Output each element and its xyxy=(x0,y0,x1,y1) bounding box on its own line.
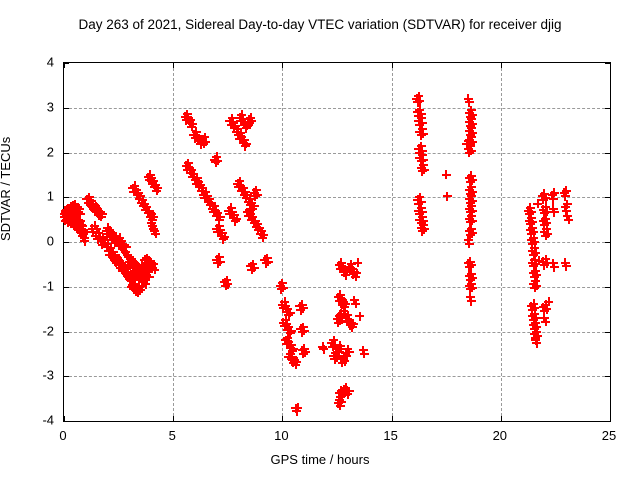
data-point-marker xyxy=(212,152,221,161)
data-point-marker xyxy=(349,270,358,279)
data-point-marker xyxy=(137,281,146,290)
data-point-marker xyxy=(563,212,572,221)
data-point-marker xyxy=(246,201,255,210)
data-point-marker xyxy=(468,119,477,128)
data-point-marker xyxy=(527,213,536,222)
y-tick-label: 4 xyxy=(0,55,54,70)
data-point-marker xyxy=(62,212,71,221)
data-point-marker xyxy=(184,159,193,168)
data-point-marker xyxy=(213,156,222,165)
data-point-marker xyxy=(63,211,72,220)
data-point-marker xyxy=(216,226,225,235)
data-point-marker xyxy=(75,204,84,213)
data-point-marker xyxy=(535,256,544,265)
data-point-marker xyxy=(334,293,343,302)
data-point-marker xyxy=(240,190,249,199)
data-point-marker xyxy=(221,281,230,290)
data-point-marker xyxy=(80,234,89,243)
data-point-marker xyxy=(415,193,424,202)
data-point-marker xyxy=(342,351,351,360)
data-point-marker xyxy=(468,176,477,185)
data-point-marker xyxy=(138,195,147,204)
data-point-marker xyxy=(467,270,476,279)
data-point-marker xyxy=(340,310,349,319)
data-point-marker xyxy=(138,267,147,276)
data-point-marker xyxy=(466,130,475,139)
data-point-marker xyxy=(64,204,73,213)
data-point-marker xyxy=(128,184,137,193)
data-point-marker xyxy=(466,230,475,239)
data-point-marker xyxy=(329,351,338,360)
data-point-marker xyxy=(244,197,253,206)
data-point-marker xyxy=(542,219,551,228)
data-point-marker xyxy=(142,254,151,263)
data-point-marker xyxy=(246,210,255,219)
data-point-marker xyxy=(148,215,157,224)
data-point-marker xyxy=(345,263,354,272)
data-point-marker xyxy=(242,139,251,148)
data-point-marker xyxy=(67,203,76,212)
data-point-marker xyxy=(234,131,243,140)
data-point-marker xyxy=(135,274,144,283)
data-point-marker xyxy=(63,208,72,217)
data-point-marker xyxy=(136,272,145,281)
data-point-marker xyxy=(224,206,233,215)
data-point-marker xyxy=(255,223,264,232)
data-point-marker xyxy=(531,333,540,342)
data-point-marker xyxy=(146,170,155,179)
data-point-marker xyxy=(139,202,148,211)
data-point-marker xyxy=(61,209,70,218)
data-point-marker xyxy=(105,250,114,259)
data-point-marker xyxy=(526,203,535,212)
data-point-marker xyxy=(542,259,551,268)
data-point-marker xyxy=(257,227,266,236)
data-point-marker xyxy=(420,165,429,174)
data-point-marker xyxy=(417,223,426,232)
data-point-marker xyxy=(336,316,345,325)
data-point-marker xyxy=(540,306,549,315)
data-point-marker xyxy=(417,142,426,151)
data-point-marker xyxy=(231,217,240,226)
data-point-marker xyxy=(284,311,293,320)
data-point-marker xyxy=(466,112,475,121)
data-point-marker xyxy=(235,177,244,186)
data-point-marker xyxy=(282,340,291,349)
data-point-marker xyxy=(147,219,156,228)
data-point-marker xyxy=(108,253,117,262)
data-point-marker xyxy=(199,139,208,148)
data-point-marker xyxy=(336,392,345,401)
data-point-marker xyxy=(145,176,154,185)
data-point-marker xyxy=(466,293,475,302)
data-point-marker xyxy=(528,258,537,267)
data-point-marker xyxy=(417,163,426,172)
data-point-marker xyxy=(142,271,151,280)
data-point-marker xyxy=(117,237,126,246)
y-tick-label: 0 xyxy=(0,234,54,249)
data-point-marker xyxy=(335,396,344,405)
data-point-marker xyxy=(340,388,349,397)
data-point-marker xyxy=(92,225,101,234)
data-point-marker xyxy=(286,349,295,358)
data-point-marker xyxy=(230,124,239,133)
data-point-marker xyxy=(468,187,477,196)
data-point-marker xyxy=(140,199,149,208)
data-point-marker xyxy=(242,124,251,133)
data-point-marker xyxy=(212,224,221,233)
data-point-marker xyxy=(213,209,222,218)
data-point-marker xyxy=(236,128,245,137)
data-point-marker xyxy=(292,407,301,416)
data-point-marker xyxy=(203,192,212,201)
data-point-marker xyxy=(145,206,154,215)
data-point-marker xyxy=(415,148,424,157)
data-point-marker xyxy=(529,269,538,278)
data-point-marker xyxy=(135,195,144,204)
data-point-marker xyxy=(296,324,305,333)
data-point-marker xyxy=(414,199,423,208)
data-point-marker xyxy=(467,171,476,180)
data-point-marker xyxy=(540,189,549,198)
data-point-marker xyxy=(189,130,198,139)
data-point-marker xyxy=(60,213,69,222)
data-point-marker xyxy=(106,244,115,253)
data-point-marker xyxy=(467,224,476,233)
data-point-marker xyxy=(132,186,141,195)
data-point-marker xyxy=(532,339,541,348)
data-point-marker xyxy=(134,268,143,277)
data-point-marker xyxy=(542,305,551,314)
data-point-marker xyxy=(353,258,362,267)
data-point-marker xyxy=(120,262,129,271)
data-point-marker xyxy=(465,239,474,248)
data-point-marker xyxy=(467,202,476,211)
data-point-marker xyxy=(65,207,74,216)
data-point-marker xyxy=(128,256,137,265)
data-point-marker xyxy=(529,250,538,259)
x-tick-label: 10 xyxy=(274,428,288,443)
data-point-marker xyxy=(278,279,287,288)
data-point-marker xyxy=(336,264,345,273)
data-point-marker xyxy=(237,186,246,195)
data-point-marker xyxy=(286,329,295,338)
data-point-marker xyxy=(231,121,240,130)
data-point-marker xyxy=(251,216,260,225)
data-point-marker xyxy=(413,195,422,204)
data-point-marker xyxy=(339,297,348,306)
data-point-marker xyxy=(530,324,539,333)
data-point-marker xyxy=(291,360,300,369)
data-point-marker xyxy=(113,254,122,263)
data-point-marker xyxy=(68,215,77,224)
data-point-marker xyxy=(318,342,327,351)
data-point-marker xyxy=(211,206,220,215)
data-point-marker xyxy=(259,230,268,239)
data-point-marker xyxy=(121,269,130,278)
data-point-marker xyxy=(345,387,354,396)
data-point-marker xyxy=(75,223,84,232)
data-point-marker xyxy=(73,224,82,233)
data-point-marker xyxy=(412,94,421,103)
data-point-marker xyxy=(135,282,144,291)
data-point-marker xyxy=(466,178,475,187)
data-point-marker xyxy=(77,229,86,238)
data-point-marker xyxy=(129,285,138,294)
data-point-marker xyxy=(466,208,475,217)
data-point-marker xyxy=(543,229,552,238)
data-point-marker xyxy=(531,266,540,275)
data-point-marker xyxy=(234,183,243,192)
data-point-marker xyxy=(467,212,476,221)
data-point-marker xyxy=(150,227,159,236)
data-point-marker xyxy=(94,229,103,238)
data-point-marker xyxy=(72,220,81,229)
data-point-marker xyxy=(300,326,309,335)
data-point-marker xyxy=(465,272,474,281)
data-point-marker xyxy=(530,272,539,281)
data-point-marker xyxy=(528,246,537,255)
data-point-marker xyxy=(418,146,427,155)
data-point-marker xyxy=(91,231,100,240)
data-point-marker xyxy=(333,353,342,362)
data-point-marker xyxy=(524,206,533,215)
data-point-marker xyxy=(564,215,573,224)
data-point-marker xyxy=(247,265,256,274)
data-point-marker xyxy=(134,288,143,297)
data-point-marker xyxy=(338,358,347,367)
data-point-marker xyxy=(94,211,103,220)
data-point-marker xyxy=(109,247,118,256)
data-point-marker xyxy=(181,112,190,121)
data-point-marker xyxy=(243,121,252,130)
data-point-marker xyxy=(464,94,473,103)
y-tick-label: 2 xyxy=(0,144,54,159)
data-point-marker xyxy=(243,208,252,217)
data-point-marker xyxy=(560,188,569,197)
data-point-marker xyxy=(228,114,237,123)
data-point-marker xyxy=(216,212,225,221)
data-point-marker xyxy=(130,181,139,190)
data-point-marker xyxy=(70,211,79,220)
data-point-marker xyxy=(465,227,474,236)
data-point-marker xyxy=(281,315,290,324)
data-point-marker xyxy=(245,205,254,214)
x-axis-label: GPS time / hours xyxy=(0,452,640,467)
data-point-marker xyxy=(343,345,352,354)
data-point-marker xyxy=(184,113,193,122)
data-point-marker xyxy=(129,280,138,289)
data-point-marker xyxy=(111,251,120,260)
data-point-marker xyxy=(210,155,219,164)
data-point-marker xyxy=(205,195,214,204)
data-point-marker xyxy=(464,144,473,153)
data-point-marker xyxy=(114,239,123,248)
data-point-marker xyxy=(123,250,132,259)
data-point-marker xyxy=(76,226,85,235)
data-point-marker xyxy=(417,110,426,119)
scatter-series-sdtvar xyxy=(64,63,610,421)
data-point-marker xyxy=(418,212,427,221)
data-point-marker xyxy=(282,320,291,329)
plot-area xyxy=(63,62,611,422)
data-point-marker xyxy=(185,163,194,172)
data-point-marker xyxy=(337,398,346,407)
data-point-marker xyxy=(71,214,80,223)
data-point-marker xyxy=(339,352,348,361)
data-point-marker xyxy=(183,165,192,174)
data-point-marker xyxy=(258,233,267,242)
data-point-marker xyxy=(282,307,291,316)
data-point-marker xyxy=(215,253,224,262)
data-point-marker xyxy=(116,263,125,272)
data-point-marker xyxy=(284,323,293,332)
data-point-marker xyxy=(243,191,252,200)
data-point-marker xyxy=(66,210,75,219)
data-point-marker xyxy=(465,214,474,223)
data-point-marker xyxy=(288,347,297,356)
x-tick-label: 15 xyxy=(383,428,397,443)
data-point-marker xyxy=(342,386,351,395)
data-point-marker xyxy=(239,184,248,193)
data-point-marker xyxy=(360,349,369,358)
data-point-marker xyxy=(124,253,133,262)
data-point-marker xyxy=(121,247,130,256)
data-point-marker xyxy=(468,216,477,225)
data-point-marker xyxy=(188,119,197,128)
data-point-marker xyxy=(130,258,139,267)
data-point-marker xyxy=(127,260,136,269)
data-point-marker xyxy=(97,237,106,246)
data-point-marker xyxy=(293,403,302,412)
data-point-marker xyxy=(443,192,452,201)
data-point-marker xyxy=(73,203,82,212)
data-point-marker xyxy=(561,192,570,201)
data-point-marker xyxy=(413,108,422,117)
data-point-marker xyxy=(467,146,476,155)
data-point-marker xyxy=(341,299,350,308)
page-title: Day 263 of 2021, Sidereal Day-to-day VTE… xyxy=(0,17,640,32)
data-point-marker xyxy=(539,205,548,214)
data-point-marker xyxy=(223,280,232,289)
data-point-marker xyxy=(87,196,96,205)
data-point-marker xyxy=(130,283,139,292)
data-point-marker xyxy=(337,355,346,364)
data-point-marker xyxy=(89,228,98,237)
data-point-marker xyxy=(150,265,159,274)
data-point-marker xyxy=(115,256,124,265)
data-point-marker xyxy=(539,303,548,312)
data-point-marker xyxy=(341,271,350,280)
data-point-marker xyxy=(68,201,77,210)
data-point-marker xyxy=(245,118,254,127)
data-point-marker xyxy=(145,272,154,281)
data-point-marker xyxy=(211,158,220,167)
data-point-marker xyxy=(200,194,209,203)
data-point-marker xyxy=(298,300,307,309)
data-point-marker xyxy=(244,212,253,221)
data-point-marker xyxy=(541,203,550,212)
data-point-marker xyxy=(140,269,149,278)
data-point-marker xyxy=(133,272,142,281)
data-point-marker xyxy=(127,282,136,291)
data-point-marker xyxy=(216,257,225,266)
data-point-marker xyxy=(98,210,107,219)
data-point-marker xyxy=(341,348,350,357)
data-point-marker xyxy=(334,318,343,327)
data-point-marker xyxy=(93,235,102,244)
data-point-marker xyxy=(467,183,476,192)
data-point-marker xyxy=(465,174,474,183)
data-point-marker xyxy=(539,217,548,226)
data-point-marker xyxy=(220,278,229,287)
data-point-marker xyxy=(196,140,205,149)
data-point-marker xyxy=(331,348,340,357)
data-point-marker xyxy=(299,349,308,358)
data-point-marker xyxy=(153,184,162,193)
data-point-marker xyxy=(417,219,426,228)
data-point-marker xyxy=(241,118,250,127)
data-point-marker xyxy=(144,173,153,182)
data-point-marker xyxy=(544,297,553,306)
data-point-marker xyxy=(561,203,570,212)
data-point-marker xyxy=(338,300,347,309)
data-point-marker xyxy=(90,205,99,214)
data-point-marker xyxy=(201,187,210,196)
data-point-marker xyxy=(347,260,356,269)
data-point-marker xyxy=(108,229,117,238)
data-point-marker xyxy=(563,200,572,209)
data-point-marker xyxy=(136,265,145,274)
data-point-marker xyxy=(74,207,83,216)
data-point-marker xyxy=(193,173,202,182)
data-point-marker xyxy=(343,311,352,320)
data-point-marker xyxy=(185,118,194,127)
data-point-marker xyxy=(467,192,476,201)
data-point-marker xyxy=(531,260,540,269)
data-point-marker xyxy=(290,356,299,365)
data-point-marker xyxy=(227,203,236,212)
data-point-marker xyxy=(246,113,255,122)
data-point-marker xyxy=(340,303,349,312)
data-point-marker xyxy=(229,118,238,127)
data-point-marker xyxy=(133,284,142,293)
data-point-marker xyxy=(152,186,161,195)
data-point-marker xyxy=(60,210,69,219)
data-point-marker xyxy=(531,318,540,327)
data-point-marker xyxy=(240,135,249,144)
data-point-marker xyxy=(70,200,79,209)
data-point-marker xyxy=(528,218,537,227)
data-point-marker xyxy=(466,275,475,284)
data-point-marker xyxy=(75,219,84,228)
data-point-marker xyxy=(279,318,288,327)
data-point-marker xyxy=(218,229,227,238)
data-point-marker xyxy=(538,192,547,201)
data-point-marker xyxy=(465,263,474,272)
data-point-marker xyxy=(465,135,474,144)
data-point-marker xyxy=(528,223,537,232)
data-point-marker xyxy=(529,280,538,289)
data-point-marker xyxy=(210,202,219,211)
data-point-marker xyxy=(562,262,571,271)
data-point-marker xyxy=(136,286,145,295)
data-point-marker xyxy=(530,255,539,264)
data-point-marker xyxy=(262,259,271,268)
data-point-marker xyxy=(466,285,475,294)
y-tick-label: -3 xyxy=(0,368,54,383)
data-point-marker xyxy=(212,255,221,264)
